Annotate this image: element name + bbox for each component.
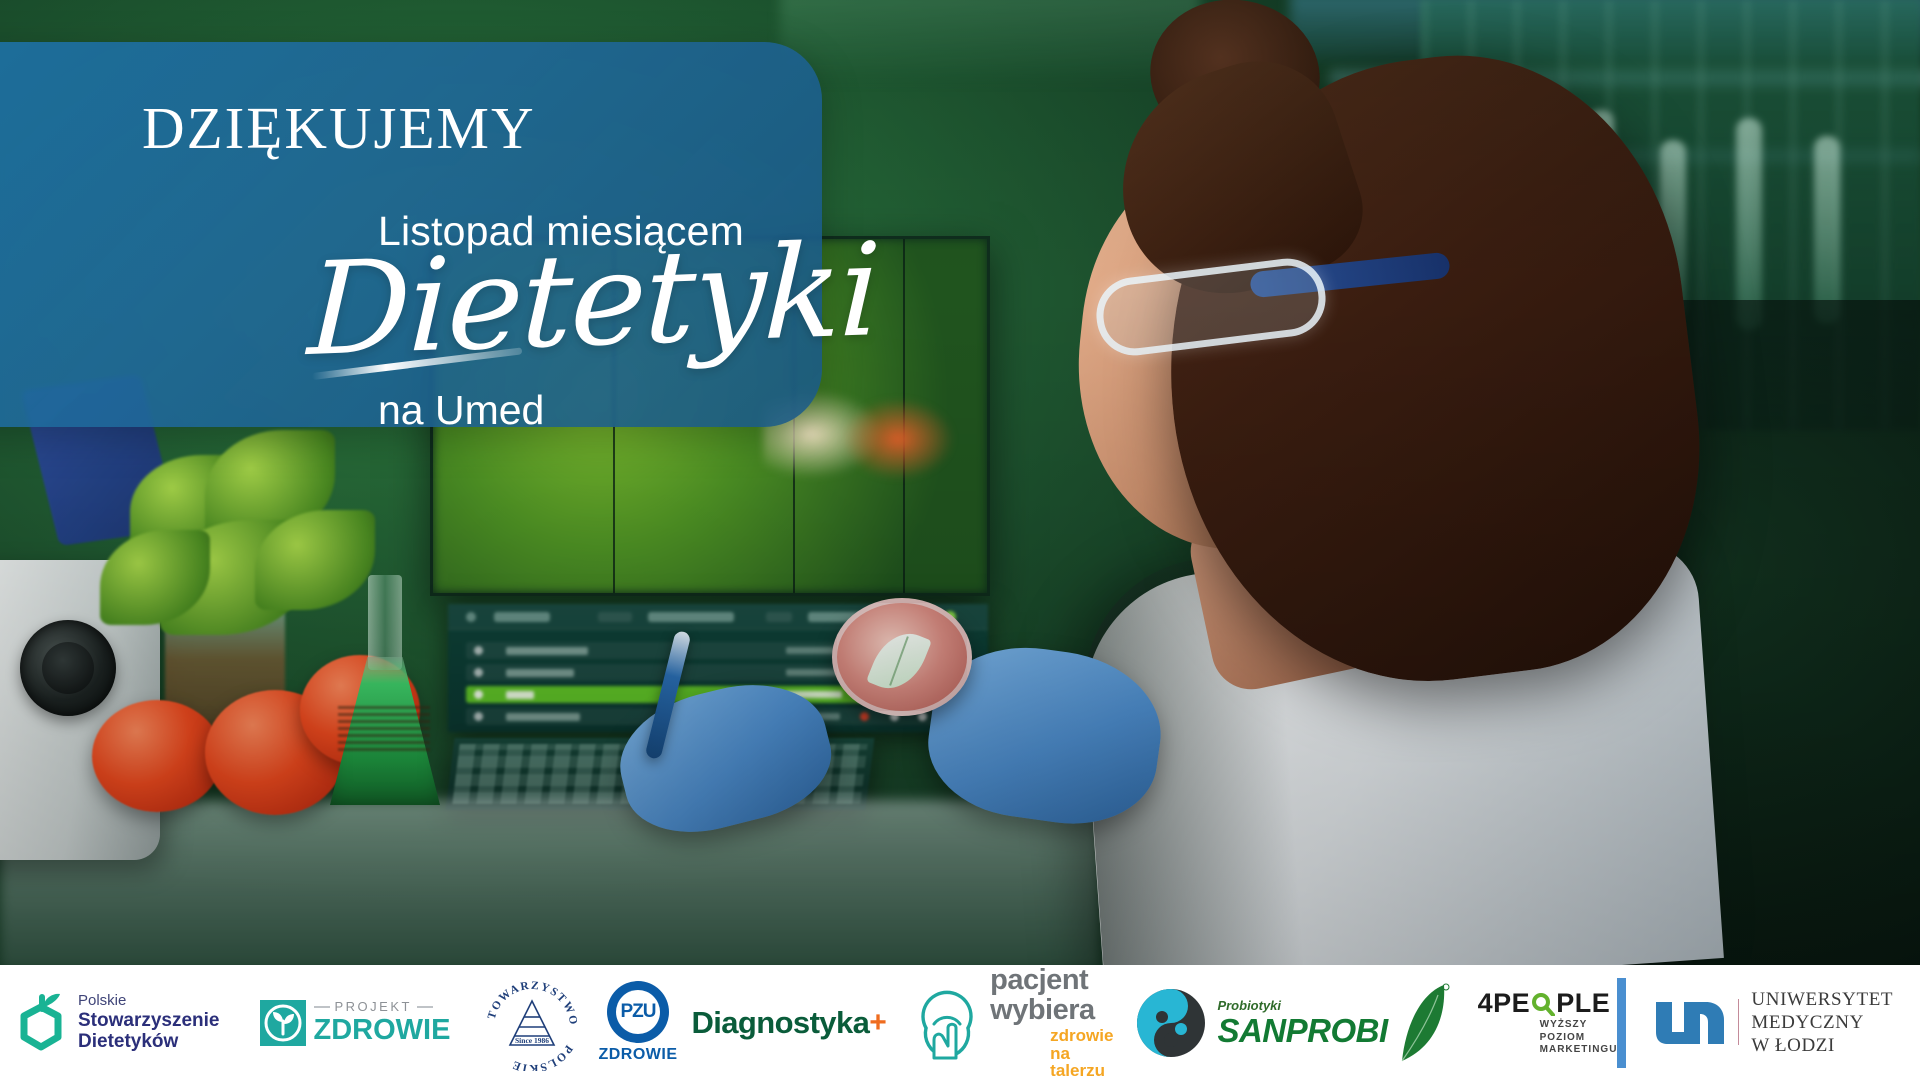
projekt-zdrowie-line2: ZDROWIE: [314, 1016, 451, 1045]
um-divider: [1738, 999, 1739, 1045]
pacjent-wybiera-line1: pacjent wybiera: [990, 965, 1113, 1026]
pacjent-wybiera-line2: zdrowie: [1050, 1027, 1113, 1045]
logo-sanprobi[interactable]: Probiotyki SANPROBI: [1135, 983, 1455, 1063]
diagnostyka-plus-icon: +: [869, 1006, 886, 1040]
fourpeople-tagline: WYŻSZY POZIOM MARKETINGU: [1540, 1019, 1618, 1057]
um-monogram-icon: [1654, 998, 1726, 1046]
fourpeople-tagline-line1: WYŻSZY POZIOM: [1540, 1019, 1618, 1044]
logo-projekt-zdrowie[interactable]: PROJEKT ZDROWIE: [260, 1000, 451, 1046]
headline-panel: DZIĘKUJEMY Listopad miesiącem Dietetyki …: [0, 42, 822, 427]
poster-root: DZIĘKUJEMY Listopad miesiącem Dietetyki …: [0, 0, 1920, 1080]
svg-text:POLSKIE: POLSKIE: [510, 1042, 575, 1070]
svg-text:Since 1986: Since 1986: [515, 1036, 549, 1045]
logo-polskie-stowarzyszenie-dietetykow[interactable]: Polskie Stowarzyszenie Dietetyków: [10, 991, 220, 1055]
um-line1: UNIWERSYTET: [1751, 988, 1893, 1011]
fourpeople-tagline-line2: MARKETINGU: [1540, 1044, 1618, 1057]
erlenmeyer-flask: [330, 575, 440, 805]
magnifier-icon: [1531, 992, 1555, 1016]
sanprobi-yinyang-icon: [1135, 987, 1207, 1059]
logo-uniwersytet-medyczny-w-lodzi[interactable]: UNIWERSYTET MEDYCZNY W ŁODZI: [1654, 988, 1893, 1058]
pzu-monogram: PZU: [616, 990, 660, 1034]
psd-apple-icon: [14, 991, 68, 1055]
fourpeople-name-b: PLE: [1556, 988, 1610, 1019]
tomato: [92, 700, 222, 812]
headline-line-bottom: na Umed: [378, 387, 544, 434]
pzu-circle-icon: PZU: [607, 981, 669, 1043]
headline-script-word: Dietetyki: [306, 227, 881, 375]
microscope-focus-knob: [20, 620, 116, 716]
fourpeople-name-a: 4PE: [1478, 988, 1531, 1019]
thanks-heading: DZIĘKUJEMY: [142, 94, 536, 163]
sanprobi-leaf-icon: [1394, 983, 1456, 1063]
logo-polskie-towarzystwo-dietetyki[interactable]: TOWARZYSTWO DIETETYKI POLSKIE Since 1986: [484, 975, 580, 1071]
sanprobi-wordmark: Probiotyki SANPROBI: [1217, 999, 1387, 1047]
projekt-zdrowie-line1: PROJEKT: [314, 1000, 451, 1013]
psd-wordmark: Polskie Stowarzyszenie Dietetyków: [78, 993, 220, 1052]
psd-line2: Stowarzyszenie: [78, 1010, 220, 1031]
psd-line1: Polskie: [78, 993, 220, 1010]
projekt-zdrowie-sprout-icon: [260, 1000, 306, 1046]
logo-pacjent-wybiera[interactable]: pacjent wybiera zdrowie na talerzu: [912, 965, 1113, 1080]
pacjent-wybiera-hand-icon: [912, 984, 982, 1062]
pacjent-wybiera-line3: na talerzu: [1050, 1045, 1113, 1080]
projekt-zdrowie-wordmark: PROJEKT ZDROWIE: [314, 1000, 451, 1045]
partner-logo-bar: Polskie Stowarzyszenie Dietetyków PROJ: [0, 965, 1920, 1080]
thanks-heading-text: DZIĘKUJEMY: [142, 95, 536, 161]
logo-diagnostyka[interactable]: Diagnostyka+: [691, 1005, 886, 1041]
partner-logos-group: Polskie Stowarzyszenie Dietetyków PROJ: [0, 965, 1617, 1080]
diagnostyka-wordmark: Diagnostyka: [691, 1005, 869, 1041]
pzu-label: ZDROWIE: [598, 1046, 677, 1064]
um-wordmark: UNIWERSYTET MEDYCZNY W ŁODZI: [1751, 988, 1893, 1058]
pacjent-wybiera-wordmark: pacjent wybiera zdrowie na talerzu: [990, 965, 1113, 1080]
footer-divider: [1617, 978, 1626, 1068]
ptd-pyramid-seal-icon: TOWARZYSTWO DIETETYKI POLSKIE Since 1986: [484, 975, 580, 1071]
fourpeople-wordmark: 4PE PLE: [1478, 988, 1611, 1019]
shelf-band: [780, 0, 1200, 80]
um-line2: MEDYCZNY: [1751, 1011, 1893, 1034]
sanprobi-line1: Probiotyki: [1217, 999, 1387, 1012]
logo-pzu-zdrowie[interactable]: PZU ZDROWIE: [598, 981, 677, 1064]
university-logos-group: UNIWERSYTET MEDYCZNY W ŁODZI BIURO: [1632, 965, 1920, 1080]
desk-surface: [0, 800, 1100, 965]
logo-4people[interactable]: 4PE PLE WYŻSZY POZIOM MARKETINGU: [1478, 988, 1618, 1057]
sanprobi-line2: SANPROBI: [1217, 1014, 1387, 1047]
psd-line3: Dietetyków: [78, 1031, 220, 1052]
um-line3: W ŁODZI: [1751, 1034, 1893, 1057]
